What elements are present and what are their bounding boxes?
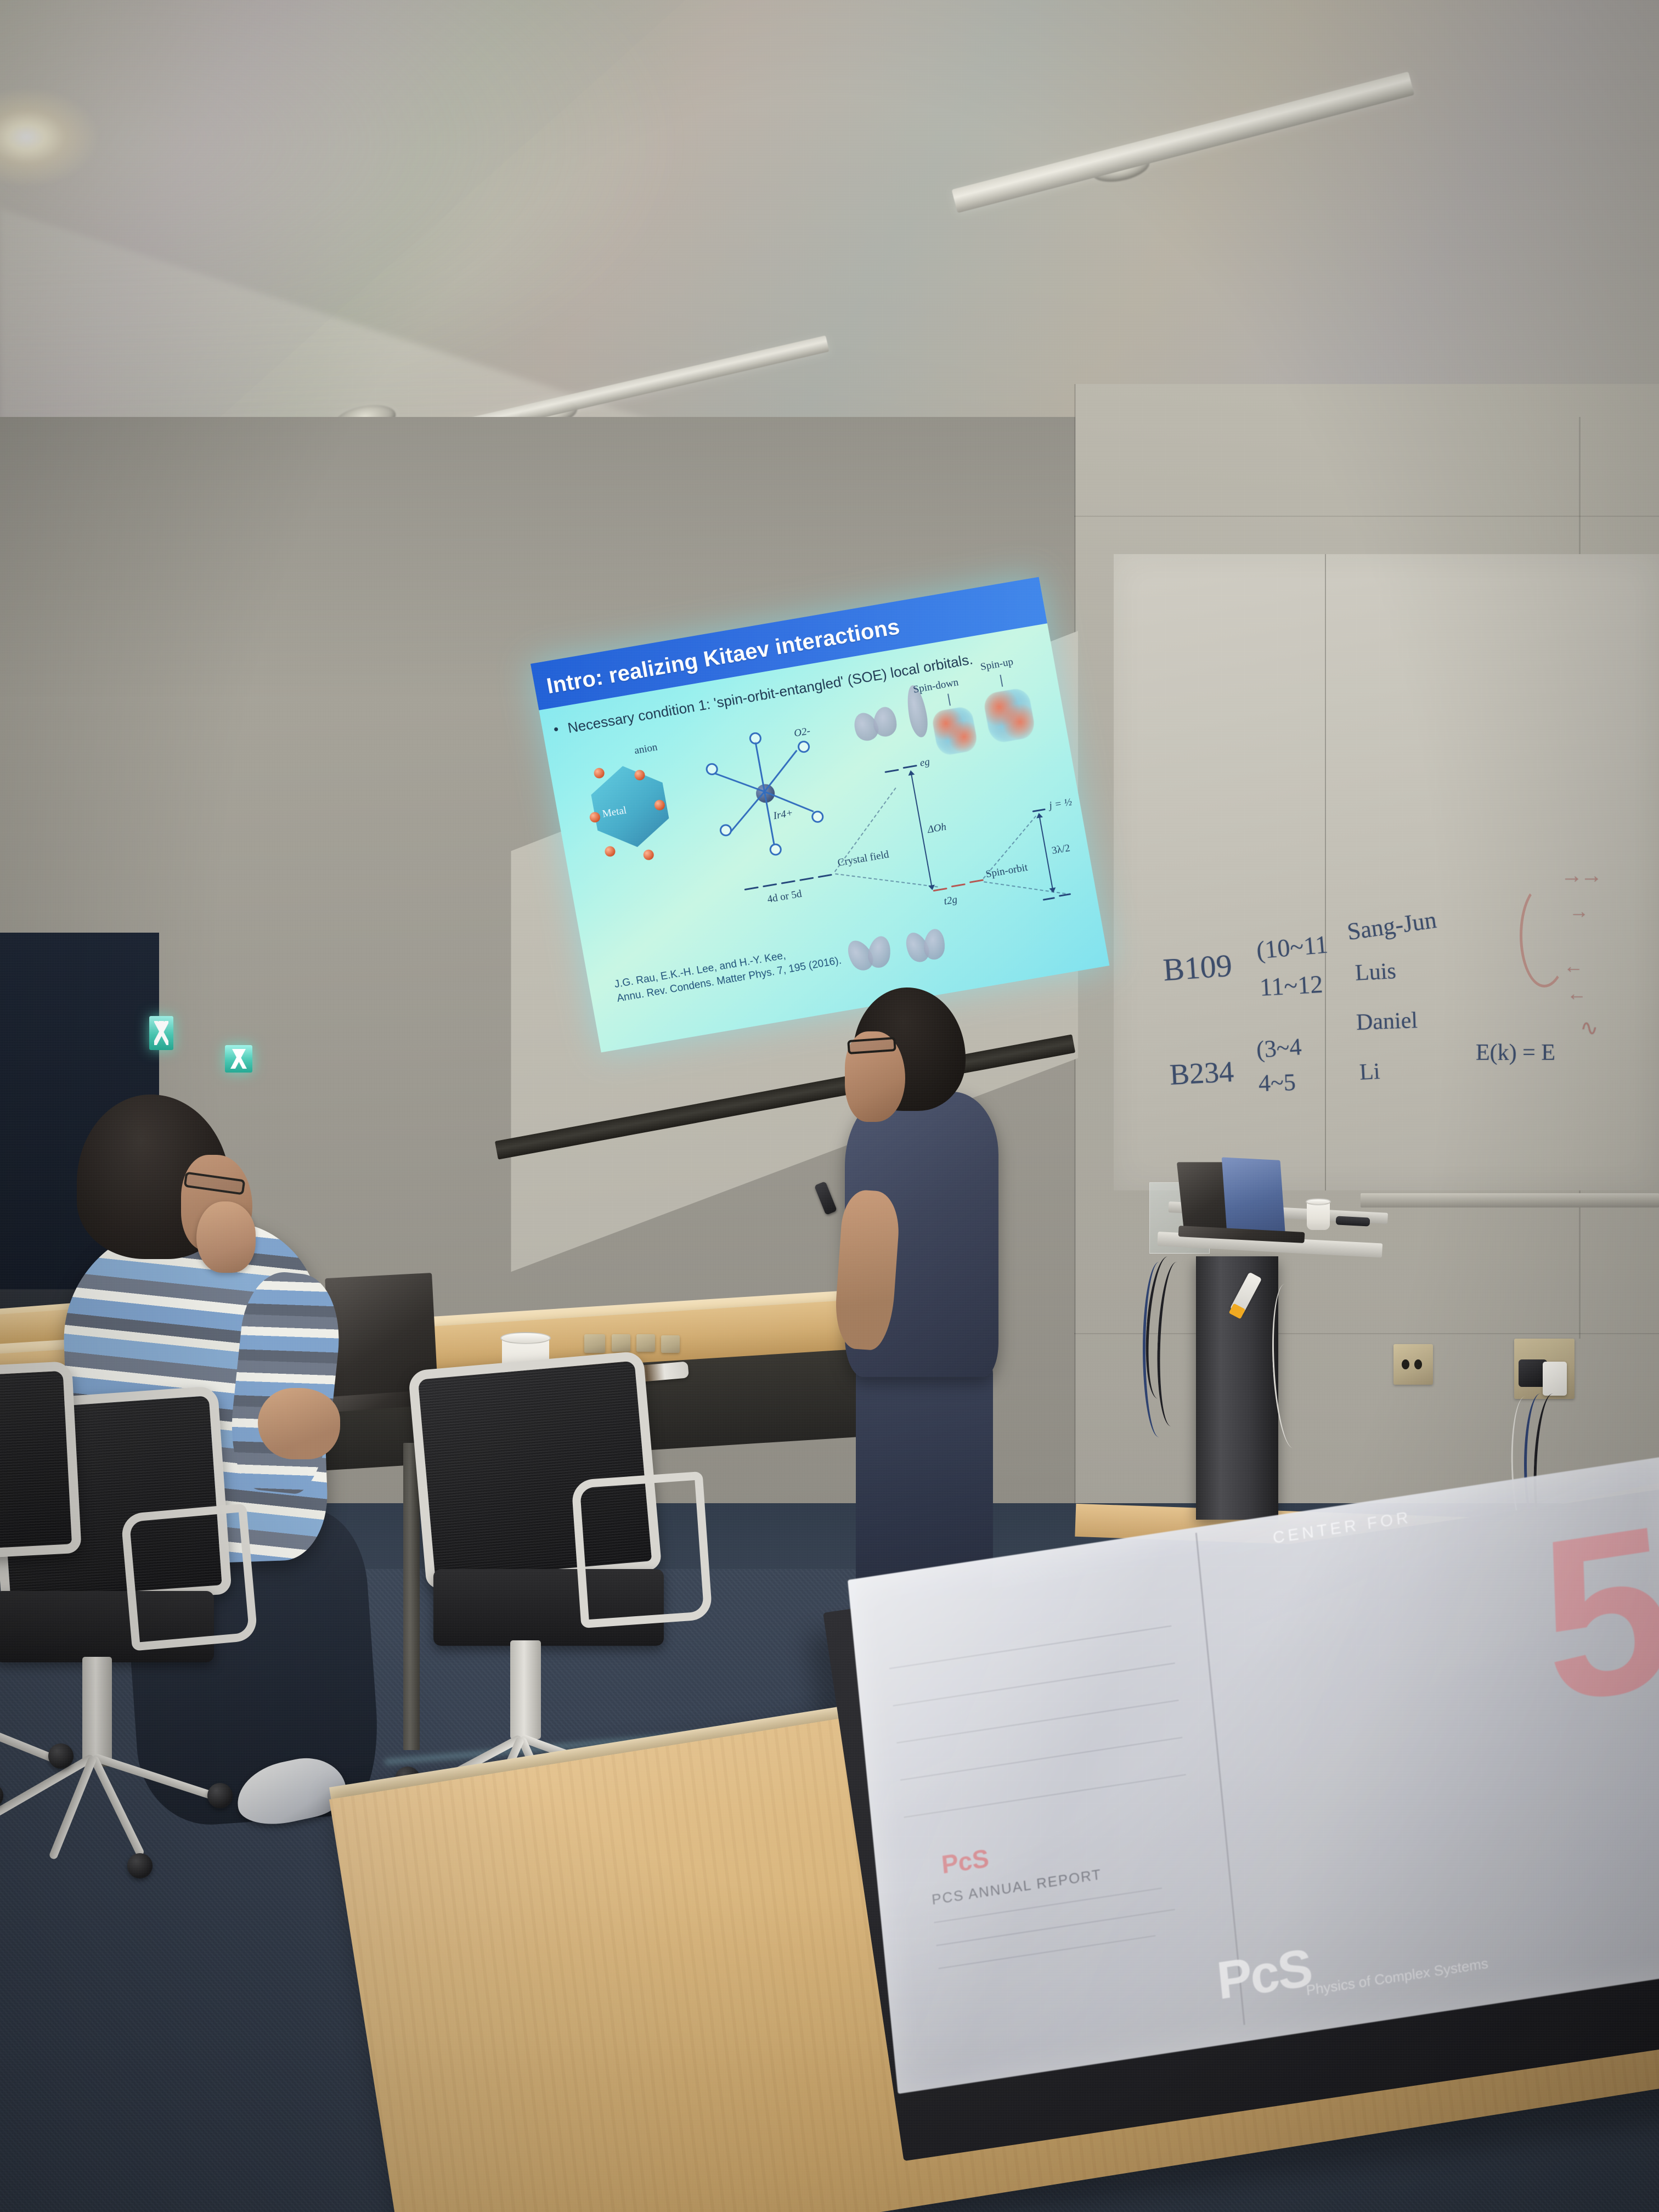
slide-label-anion: anion bbox=[634, 741, 659, 757]
spin-up-leader-line bbox=[1000, 675, 1003, 687]
metal-ligand-bond bbox=[755, 742, 765, 792]
chair-gas-cylinder bbox=[82, 1657, 112, 1761]
whiteboard-red-arrows-2: → bbox=[1569, 900, 1587, 923]
chair-gas-cylinder bbox=[510, 1640, 541, 1739]
slide-label-delta-oh: ΔOh bbox=[927, 821, 947, 836]
metal-ligand-bond bbox=[764, 750, 797, 792]
spin-down-leader-line bbox=[947, 693, 951, 706]
crystal-field-guide bbox=[835, 873, 938, 888]
whiteboard-red-arrows-3: ← bbox=[1564, 955, 1581, 978]
level-eg bbox=[884, 769, 899, 773]
exit-sign-left bbox=[149, 1016, 173, 1050]
wall-socket-3[interactable] bbox=[636, 1334, 655, 1352]
attendee-forearm bbox=[258, 1388, 340, 1459]
podium-tablet-screen[interactable] bbox=[1222, 1157, 1285, 1237]
booklet-header-text: CENTER FOR bbox=[1272, 1508, 1412, 1548]
attendee-hand-on-chin bbox=[196, 1201, 256, 1273]
chair-caster bbox=[48, 1743, 74, 1769]
seminar-room-photo: B109 (10~11 11~12 B234 (3~4 4~5 Sang-Jun… bbox=[0, 0, 1659, 2212]
booklet-logo-small: PcS bbox=[940, 1843, 990, 1880]
level-j-half bbox=[1032, 809, 1046, 812]
level-4d5d bbox=[799, 877, 814, 881]
desk-leg-mid bbox=[403, 1443, 420, 1750]
running-man-icon bbox=[154, 1021, 168, 1046]
paper-cup-rim bbox=[500, 1332, 551, 1344]
slide-label-t2g: t2g bbox=[943, 894, 958, 908]
oxygen-ligand bbox=[797, 740, 811, 754]
whiteboard-note-room-b234: B234 bbox=[1169, 1054, 1234, 1092]
whiteboard-marker-on-podium[interactable] bbox=[1336, 1216, 1370, 1226]
slide-label-spin-up: Spin-up bbox=[979, 656, 1014, 674]
booklet-rule bbox=[936, 1909, 1175, 1946]
whiteboard-equation: E(k) = E bbox=[1476, 1040, 1555, 1066]
whiteboard-name-li: Li bbox=[1359, 1058, 1381, 1086]
plug-white bbox=[1543, 1362, 1567, 1396]
slide-label-spin-orbit: Spin-orbit bbox=[985, 862, 1029, 881]
outlet-socket-hole bbox=[1414, 1359, 1422, 1369]
wall-seam-horizontal-2 bbox=[1074, 516, 1659, 517]
metal-ligand-bond bbox=[714, 772, 765, 792]
level-4d5d bbox=[763, 883, 777, 887]
booklet-rule bbox=[893, 1662, 1175, 1706]
slide-label-lambda: 3λ/2 bbox=[1051, 842, 1071, 857]
slide-citation: J.G. Rau, E.K.-H. Lee, and H.-Y. Kee, An… bbox=[613, 940, 843, 1006]
spin-down-orbital bbox=[931, 706, 979, 757]
whiteboard-name-luis: Luis bbox=[1355, 958, 1397, 986]
booklet-rule bbox=[904, 1774, 1186, 1818]
booklet-rule bbox=[889, 1626, 1171, 1669]
ceiling-bulb-glare bbox=[0, 88, 99, 187]
level-t2g bbox=[951, 883, 966, 887]
oxygen-ligand bbox=[748, 731, 763, 745]
paper-cup-on-podium[interactable] bbox=[1307, 1201, 1330, 1230]
chair-armrest bbox=[571, 1471, 713, 1628]
booklet-rule bbox=[900, 1737, 1182, 1781]
booklet-rule bbox=[896, 1700, 1178, 1743]
outlet-socket-hole bbox=[1402, 1359, 1409, 1369]
whiteboard-note-room-b109: B109 bbox=[1162, 947, 1233, 989]
level-4d5d bbox=[818, 874, 832, 878]
running-man-icon bbox=[230, 1049, 247, 1069]
anion-vertex bbox=[593, 767, 605, 779]
level-4d5d bbox=[744, 887, 759, 890]
chair-caster bbox=[127, 1853, 153, 1878]
level-j-three-half bbox=[1043, 897, 1055, 901]
chair-backrest bbox=[0, 1361, 82, 1563]
exit-sign-wall bbox=[225, 1045, 252, 1073]
wall-socket-4[interactable] bbox=[661, 1335, 680, 1353]
podium-cable-blue bbox=[1143, 1262, 1176, 1437]
chair-armrest bbox=[121, 1503, 258, 1651]
lambda-splitting-arrow bbox=[1039, 817, 1053, 888]
slide-label-j-half: j = ½ bbox=[1048, 796, 1073, 812]
metal-ligand-bond bbox=[730, 791, 765, 833]
whiteboard-note-time-10-11: (10~11 bbox=[1255, 929, 1329, 964]
oxygen-ligand bbox=[719, 823, 733, 837]
chair-caster bbox=[207, 1783, 233, 1808]
level-t2g bbox=[969, 879, 984, 883]
level-eg bbox=[903, 765, 917, 769]
slide-label-iridium: Ir4+ bbox=[772, 807, 794, 822]
orbital-lobe bbox=[873, 707, 896, 737]
whiteboard-red-zigzag: ∿ bbox=[1580, 1015, 1599, 1041]
podium-cup-rim bbox=[1306, 1198, 1331, 1205]
slide-label-eg: eg bbox=[919, 756, 931, 770]
whiteboard-note-time-3-4: (3~4 bbox=[1255, 1032, 1302, 1064]
level-4d5d bbox=[781, 880, 795, 884]
linear-light-fixture-1 bbox=[951, 71, 1414, 213]
booklet-logo: PcS bbox=[1214, 1938, 1313, 2012]
whiteboard-marker-tray bbox=[1361, 1193, 1659, 1207]
orbital-lobe bbox=[923, 928, 946, 961]
slide-label-spin-down: Spin-down bbox=[912, 676, 960, 696]
booklet-big-number: 5 bbox=[1534, 1509, 1659, 1722]
whiteboard-name-daniel: Daniel bbox=[1356, 1007, 1418, 1036]
whiteboard-red-arrows-4: ← bbox=[1567, 982, 1584, 1005]
wall-socket-1[interactable] bbox=[584, 1334, 605, 1353]
anion-vertex bbox=[642, 849, 654, 861]
whiteboard-red-mark-1 bbox=[1520, 883, 1569, 988]
level-j-three-half bbox=[1059, 893, 1071, 897]
whiteboard-divider bbox=[1325, 554, 1326, 1190]
booklet-logo-subtitle: Physics of Complex Systems bbox=[1306, 1955, 1489, 1999]
spin-up-orbital bbox=[982, 687, 1036, 744]
whiteboard-note-time-11-12: 11~12 bbox=[1259, 969, 1324, 1002]
slide-label-4d-or-5d: 4d or 5d bbox=[766, 888, 803, 906]
whiteboard-red-arrows: →→ bbox=[1561, 862, 1600, 888]
oxygen-ligand bbox=[769, 843, 783, 856]
wall-socket-2[interactable] bbox=[612, 1334, 630, 1352]
slide-label-oxygen: O2- bbox=[793, 725, 811, 740]
anion-vertex bbox=[604, 845, 616, 857]
slide-label-crystal-field: Crystal field bbox=[837, 849, 890, 870]
wall-outlet-podium-side[interactable] bbox=[1393, 1344, 1433, 1385]
whiteboard-note-time-4-5: 4~5 bbox=[1258, 1068, 1296, 1097]
